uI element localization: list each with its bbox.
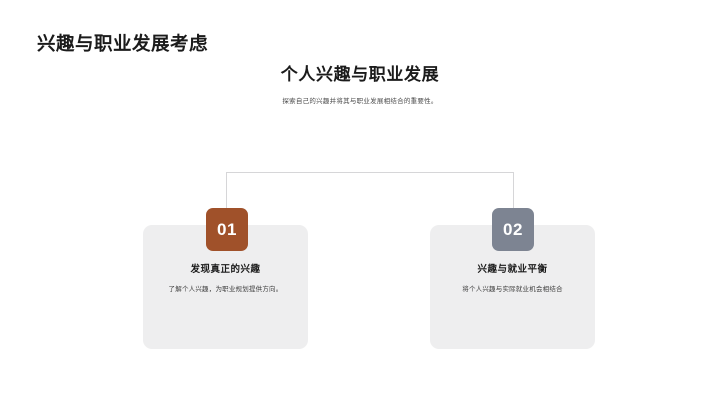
card-description-2: 将个人兴趣与实际就业机会相结合 — [441, 284, 584, 295]
heading-block: 个人兴趣与职业发展 探索自己的兴趣并将其与职业发展相结合的重要性。 — [0, 64, 720, 107]
card-title-1: 发现真正的兴趣 — [154, 263, 297, 276]
main-heading: 个人兴趣与职业发展 — [0, 64, 720, 85]
page-title: 兴趣与职业发展考虑 — [37, 30, 208, 56]
slide-canvas: 兴趣与职业发展考虑 个人兴趣与职业发展 探索自己的兴趣并将其与职业发展相结合的重… — [0, 0, 720, 404]
card-title-2: 兴趣与就业平衡 — [441, 263, 584, 276]
card-number-badge-2: 02 — [492, 208, 534, 251]
card-content-1: 发现真正的兴趣 了解个人兴趣，为职业规划提供方向。 — [154, 263, 297, 295]
sub-heading: 探索自己的兴趣并将其与职业发展相结合的重要性。 — [0, 97, 720, 107]
card-number-badge-1: 01 — [206, 208, 248, 251]
connector-bracket — [226, 172, 514, 212]
card-content-2: 兴趣与就业平衡 将个人兴趣与实际就业机会相结合 — [441, 263, 584, 295]
card-description-1: 了解个人兴趣，为职业规划提供方向。 — [154, 284, 297, 295]
